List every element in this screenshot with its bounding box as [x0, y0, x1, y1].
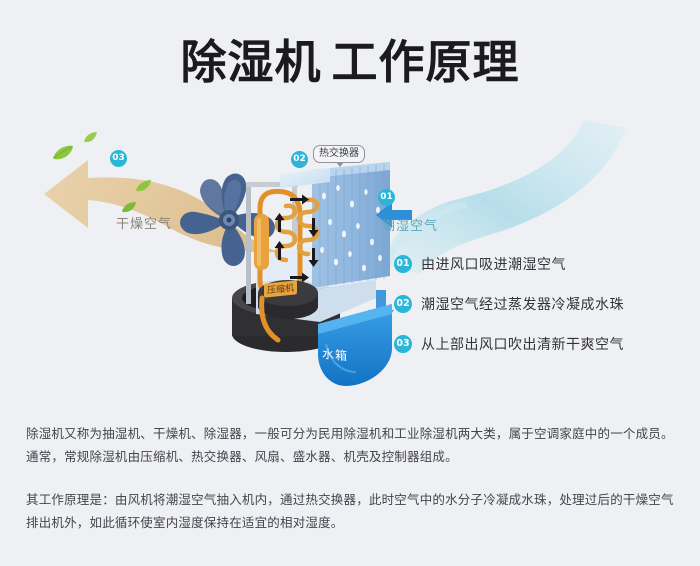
dry-air-label: 干燥空气 — [116, 213, 172, 232]
badge-03: 03 — [394, 335, 412, 353]
legend-item-label: 从上部出风口吹出清新干爽空气 — [421, 334, 624, 354]
leaf-icon — [84, 132, 98, 143]
body-copy: 除湿机又称为抽湿机、干燥机、除湿器，一般可分为民用除湿机和工业除湿机两大类，属于… — [26, 423, 676, 535]
heat-exchanger-callout: 热交换器 — [313, 145, 365, 163]
legend-item: 03 从上部出风口吹出清新干爽空气 — [394, 335, 694, 353]
dry-air-badge-wrap: 03 — [110, 147, 127, 167]
legend-item: 02 潮湿空气经过蒸发器冷凝成水珠 — [394, 295, 694, 313]
legend-item-label: 潮湿空气经过蒸发器冷凝成水珠 — [421, 294, 624, 314]
leaf-icon — [122, 202, 137, 213]
leaf-icon — [136, 180, 152, 192]
dehumidifier-infographic: 除湿机工作原理 — [0, 0, 700, 566]
paragraph-2: 其工作原理是：由风机将潮湿空气抽入机内，通过热交换器，此时空气中的水分子冷凝成水… — [26, 489, 676, 535]
humid-air-badge-wrap: 01 — [378, 186, 395, 206]
badge-01: 01 — [378, 189, 395, 206]
heat-exchanger-badge-wrap: 02 — [291, 148, 308, 168]
badge-01: 01 — [394, 255, 412, 273]
legend-item-label: 由进风口吸进潮湿空气 — [421, 254, 566, 274]
water-tank-label: 水箱 — [322, 345, 348, 365]
badge-03: 03 — [110, 150, 127, 167]
title-part-2: 工作原理 — [332, 35, 520, 89]
badge-02: 02 — [394, 295, 412, 313]
steps-legend: 01 由进风口吸进潮湿空气 02 潮湿空气经过蒸发器冷凝成水珠 03 从上部出风… — [394, 255, 694, 375]
legend-item: 01 由进风口吸进潮湿空气 — [394, 255, 694, 273]
paragraph-1: 除湿机又称为抽湿机、干燥机、除湿器，一般可分为民用除湿机和工业除湿机两大类，属于… — [26, 423, 676, 469]
leaf-icon — [52, 145, 74, 161]
page-title: 除湿机工作原理 — [0, 33, 700, 91]
dehumidifier-unit — [226, 148, 416, 393]
title-part-1: 除湿机 — [181, 35, 322, 89]
badge-02: 02 — [291, 151, 308, 168]
humid-air-label: 潮湿空气 — [382, 215, 438, 234]
